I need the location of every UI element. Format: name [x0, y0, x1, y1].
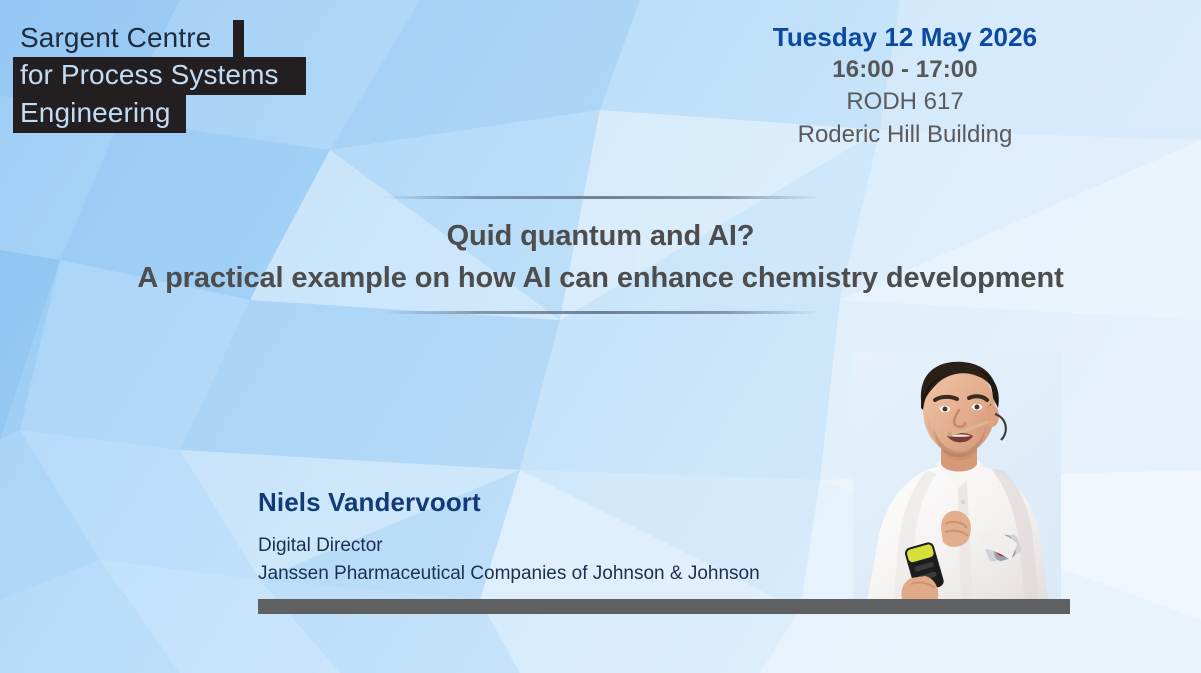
title-divider-bottom — [382, 311, 820, 314]
sargent-centre-logo: Sargent Centre for Process Systems Engin… — [0, 0, 330, 150]
speaker-photo — [853, 352, 1061, 602]
event-time: 16:00 - 17:00 — [695, 54, 1115, 86]
talk-title-block: Quid quantum and AI? A practical example… — [0, 196, 1201, 314]
speaker-name: Niels Vandervoort — [258, 487, 760, 518]
talk-title-line-1: Quid quantum and AI? — [0, 215, 1201, 257]
event-date: Tuesday 12 May 2026 — [695, 21, 1115, 54]
speaker-info: Niels Vandervoort Digital Director Janss… — [258, 487, 760, 587]
logo-line-engineering: Engineering — [20, 99, 171, 127]
speaker-role: Digital Director — [258, 532, 760, 560]
event-details: Tuesday 12 May 2026 16:00 - 17:00 RODH 6… — [695, 21, 1115, 151]
logo-line-sargent-centre: Sargent Centre — [20, 24, 211, 52]
title-divider-top — [382, 196, 820, 199]
logo-accent-tick — [233, 20, 244, 60]
logo-line-for-process-systems: for Process Systems — [20, 61, 279, 89]
event-room: RODH 617 — [695, 86, 1115, 119]
seminar-poster: Sargent Centre for Process Systems Engin… — [0, 0, 1201, 673]
speaker-affiliation: Janssen Pharmaceutical Companies of John… — [258, 560, 760, 588]
event-building: Roderic Hill Building — [695, 119, 1115, 152]
footer-bar — [258, 599, 1070, 614]
talk-title-line-2: A practical example on how AI can enhanc… — [0, 257, 1201, 299]
